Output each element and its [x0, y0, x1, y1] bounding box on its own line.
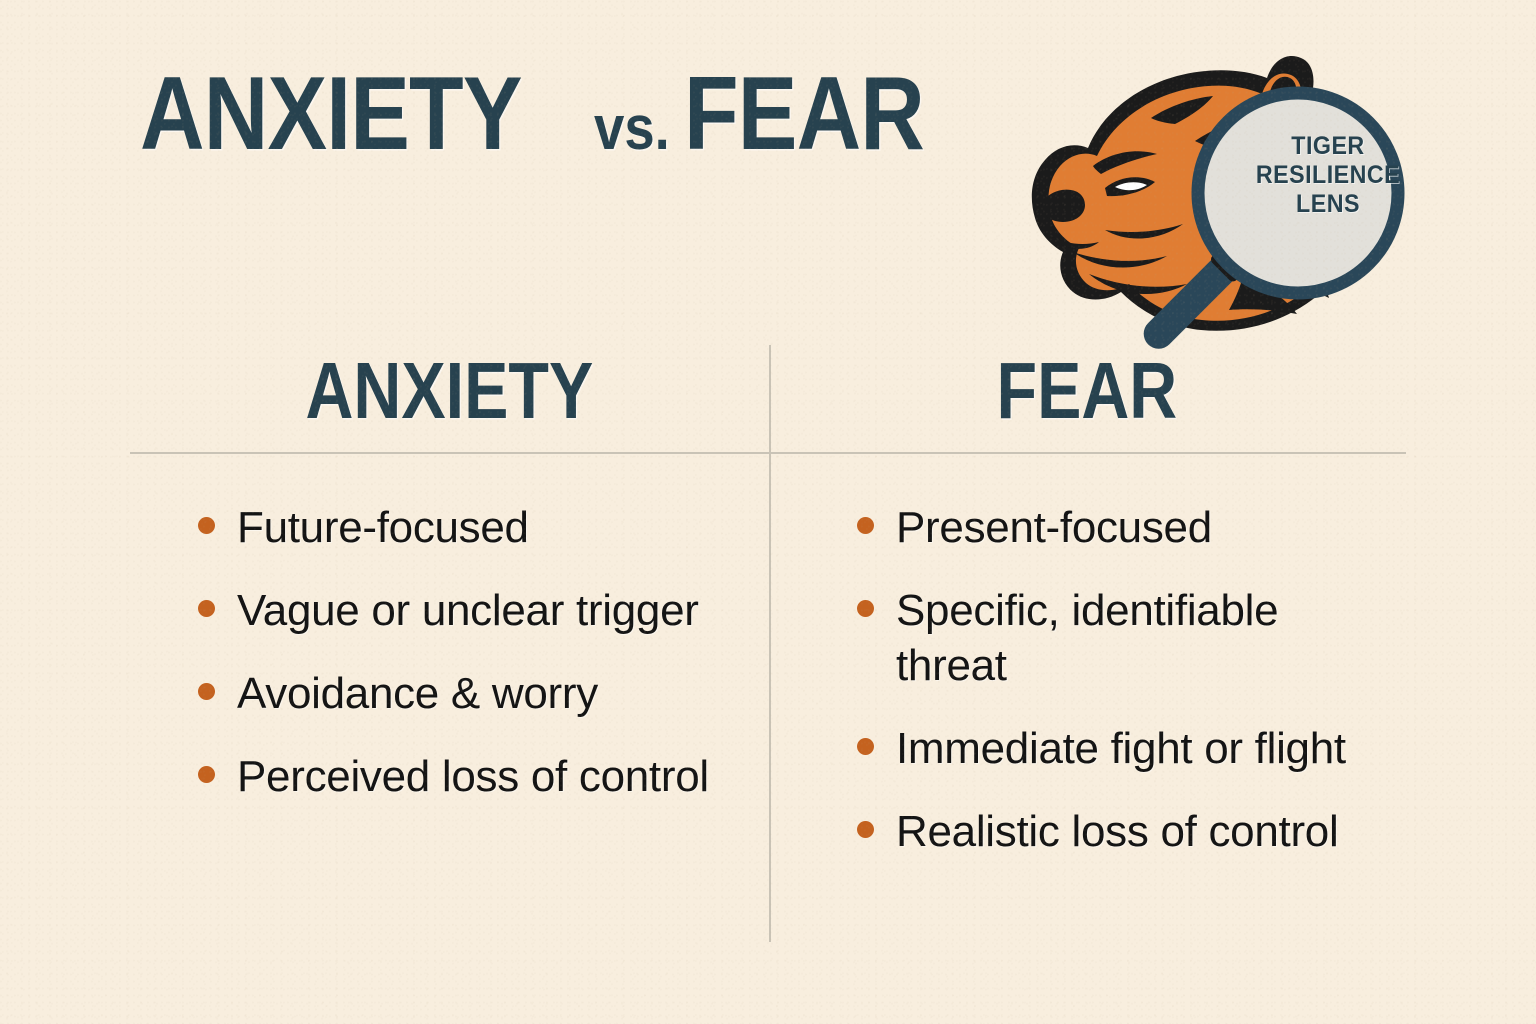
list-item-label: Avoidance & worry: [237, 666, 598, 721]
title-word-anxiety: ANXIETY: [140, 62, 522, 166]
list-item: Realistic loss of control: [857, 804, 1396, 859]
fear-bullet-list: Present-focused Specific, identifiable t…: [777, 500, 1406, 887]
tiger-resilience-lens-illustration: [955, 40, 1515, 380]
bullet-dot-icon: [198, 766, 215, 783]
bullet-dot-icon: [857, 738, 874, 755]
list-item-label: Present-focused: [896, 500, 1212, 555]
bullet-dot-icon: [198, 683, 215, 700]
list-item: Avoidance & worry: [198, 666, 737, 721]
list-item: Perceived loss of control: [198, 749, 737, 804]
column-bodies-row: Future-focused Vague or unclear trigger …: [130, 454, 1406, 887]
list-item: Future-focused: [198, 500, 737, 555]
bullet-dot-icon: [857, 600, 874, 617]
list-item: Vague or unclear trigger: [198, 583, 737, 638]
list-item: Immediate fight or flight: [857, 721, 1396, 776]
page-title: ANXIETY vs. FEAR: [140, 62, 963, 166]
bullet-dot-icon: [198, 517, 215, 534]
list-item-label: Immediate fight or flight: [896, 721, 1346, 776]
list-item-label: Future-focused: [237, 500, 529, 555]
title-word-vs: vs.: [594, 98, 670, 160]
anxiety-bullet-list: Future-focused Vague or unclear trigger …: [130, 500, 777, 887]
list-item-label: Specific, identifiable threat: [896, 583, 1396, 693]
comparison-table: ANXIETY FEAR Future-focused Vague or unc…: [130, 330, 1406, 887]
list-item: Present-focused: [857, 500, 1396, 555]
list-item: Specific, identifiable threat: [857, 583, 1396, 693]
list-item-label: Realistic loss of control: [896, 804, 1338, 859]
list-item-label: Perceived loss of control: [237, 749, 709, 804]
column-heading-anxiety: ANXIETY: [130, 330, 768, 452]
column-vertical-divider: [769, 345, 771, 942]
title-word-fear: FEAR: [684, 62, 924, 166]
list-item-label: Vague or unclear trigger: [237, 583, 699, 638]
bullet-dot-icon: [198, 600, 215, 617]
bullet-dot-icon: [857, 821, 874, 838]
bullet-dot-icon: [857, 517, 874, 534]
column-heading-anxiety-label: ANXIETY: [305, 351, 593, 431]
